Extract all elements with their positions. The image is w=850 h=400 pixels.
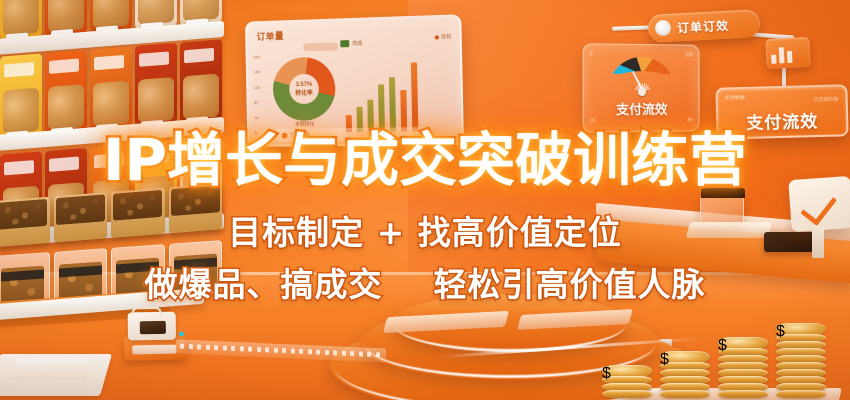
card-meta-text: 实时数据 bbox=[725, 94, 745, 103]
band-perforation bbox=[214, 345, 218, 350]
mini-bar bbox=[787, 51, 793, 63]
device-paper-slot bbox=[132, 345, 176, 355]
legend-completed: 完成 bbox=[340, 40, 362, 48]
gauge-max-tick: 100 bbox=[685, 52, 693, 58]
band-perforation bbox=[299, 349, 303, 354]
dashboard-title: 订单量 bbox=[257, 29, 285, 43]
donut-center-text: 3.57% 转化率 bbox=[273, 80, 336, 99]
band-perforation bbox=[248, 347, 252, 352]
band-perforation bbox=[231, 346, 235, 351]
coin-stack bbox=[660, 352, 710, 398]
dashboard-filter-chip[interactable] bbox=[303, 42, 338, 51]
legend-target: 目标 bbox=[435, 33, 452, 41]
paper-sheet bbox=[11, 358, 93, 380]
bar bbox=[411, 62, 419, 131]
coin-stack bbox=[602, 366, 652, 398]
band-perforation bbox=[197, 344, 201, 349]
band-perforation bbox=[333, 350, 337, 355]
y-tick: 200 bbox=[253, 54, 266, 59]
band-perforation bbox=[367, 352, 371, 357]
gauge-left-tick: 20 bbox=[590, 118, 596, 124]
retail-shelf-unit bbox=[0, 0, 226, 316]
band-perforation bbox=[189, 344, 193, 349]
wooden-crate bbox=[54, 192, 108, 242]
legend-label-target: 目标 bbox=[441, 33, 451, 40]
order-efficiency-badge[interactable]: 订单订效 bbox=[647, 9, 760, 43]
band-perforation bbox=[223, 345, 227, 350]
y-tick: 0 bbox=[255, 130, 268, 135]
band-perforation bbox=[350, 351, 354, 356]
legend-swatch-red bbox=[435, 35, 439, 39]
band-perforation bbox=[342, 351, 346, 356]
wooden-crate bbox=[0, 197, 50, 247]
background-scene: 订单量 完成 目标 200 160 120 80 40 0 3.57% 转 bbox=[0, 0, 850, 400]
sign-stand bbox=[812, 226, 824, 258]
band-perforation bbox=[359, 351, 363, 356]
y-axis-ticks: 200 160 120 80 40 0 bbox=[253, 54, 268, 135]
band-perforation bbox=[282, 348, 286, 353]
snack-package bbox=[45, 50, 87, 135]
snack-package bbox=[135, 43, 177, 128]
device-handle bbox=[131, 307, 161, 317]
coin bbox=[602, 390, 652, 398]
band-perforation bbox=[325, 350, 329, 355]
snack-package bbox=[90, 46, 132, 131]
legend-label-completed: 完成 bbox=[352, 40, 362, 47]
coin bbox=[718, 390, 768, 398]
dashboard-footer-bar[interactable]: 订单趋势 bbox=[276, 127, 425, 142]
card-label: 支付流效 bbox=[718, 106, 847, 134]
footer-label: 订单趋势 bbox=[290, 131, 310, 138]
bar bbox=[378, 85, 385, 132]
snack-package bbox=[180, 39, 222, 124]
band-perforation bbox=[206, 345, 210, 350]
donut-footer-label: 本期转化 bbox=[274, 120, 336, 128]
mini-bar-widget bbox=[765, 37, 811, 69]
legend-swatch-green bbox=[340, 40, 349, 47]
device-indicator-light bbox=[179, 331, 184, 336]
badge-label: 订单订效 bbox=[677, 16, 730, 36]
band-perforation bbox=[274, 348, 278, 353]
device-screen bbox=[140, 321, 166, 334]
band-perforation bbox=[265, 347, 269, 352]
analytics-dashboard-panel: 订单量 完成 目标 200 160 120 80 40 0 3.57% 转 bbox=[245, 14, 464, 147]
bar bbox=[389, 77, 396, 132]
donut-label: 转化率 bbox=[273, 89, 335, 99]
bar bbox=[400, 90, 407, 131]
dark-tray bbox=[764, 232, 816, 252]
bar-chart bbox=[345, 58, 448, 132]
wooden-crate bbox=[111, 188, 165, 238]
band-perforation bbox=[240, 346, 244, 351]
snack-package bbox=[0, 0, 42, 41]
mini-bar bbox=[771, 55, 776, 64]
coin bbox=[776, 390, 826, 398]
coin bbox=[660, 390, 710, 398]
y-tick: 40 bbox=[254, 115, 267, 120]
band-perforation bbox=[316, 350, 320, 355]
footer-dot-icon bbox=[282, 132, 288, 138]
y-tick: 80 bbox=[254, 100, 267, 105]
gauge-label: 支付流效 bbox=[584, 99, 699, 119]
display-plate bbox=[686, 222, 773, 238]
coin-stacks bbox=[602, 306, 832, 398]
band-perforation bbox=[308, 349, 312, 354]
mini-bar bbox=[779, 47, 785, 63]
coin-stack bbox=[718, 338, 768, 398]
y-tick: 160 bbox=[253, 69, 266, 74]
badge-dot-icon bbox=[655, 20, 672, 37]
payment-efficiency-card: 实时数据 已完成效能 支付流效 bbox=[715, 84, 848, 139]
band-perforation bbox=[180, 344, 184, 349]
checkmark-sign bbox=[788, 176, 850, 232]
band-perforation bbox=[376, 352, 380, 357]
payment-efficiency-gauge-card: 支付流效 0 100 20 80 bbox=[583, 43, 700, 132]
coin-stack bbox=[776, 324, 826, 398]
band-perforation bbox=[257, 347, 261, 352]
band-perforation bbox=[291, 348, 295, 353]
snack-package bbox=[0, 53, 42, 138]
gauge-hub bbox=[638, 88, 646, 96]
wooden-crate bbox=[169, 183, 223, 233]
promo-poster: 订单量 完成 目标 200 160 120 80 40 0 3.57% 转 bbox=[0, 0, 850, 400]
card-meta-text-secondary: 已完成效能 bbox=[814, 96, 839, 104]
gauge-right-tick: 80 bbox=[687, 118, 692, 124]
gauge-min-tick: 0 bbox=[590, 51, 593, 57]
y-tick: 120 bbox=[254, 85, 267, 90]
